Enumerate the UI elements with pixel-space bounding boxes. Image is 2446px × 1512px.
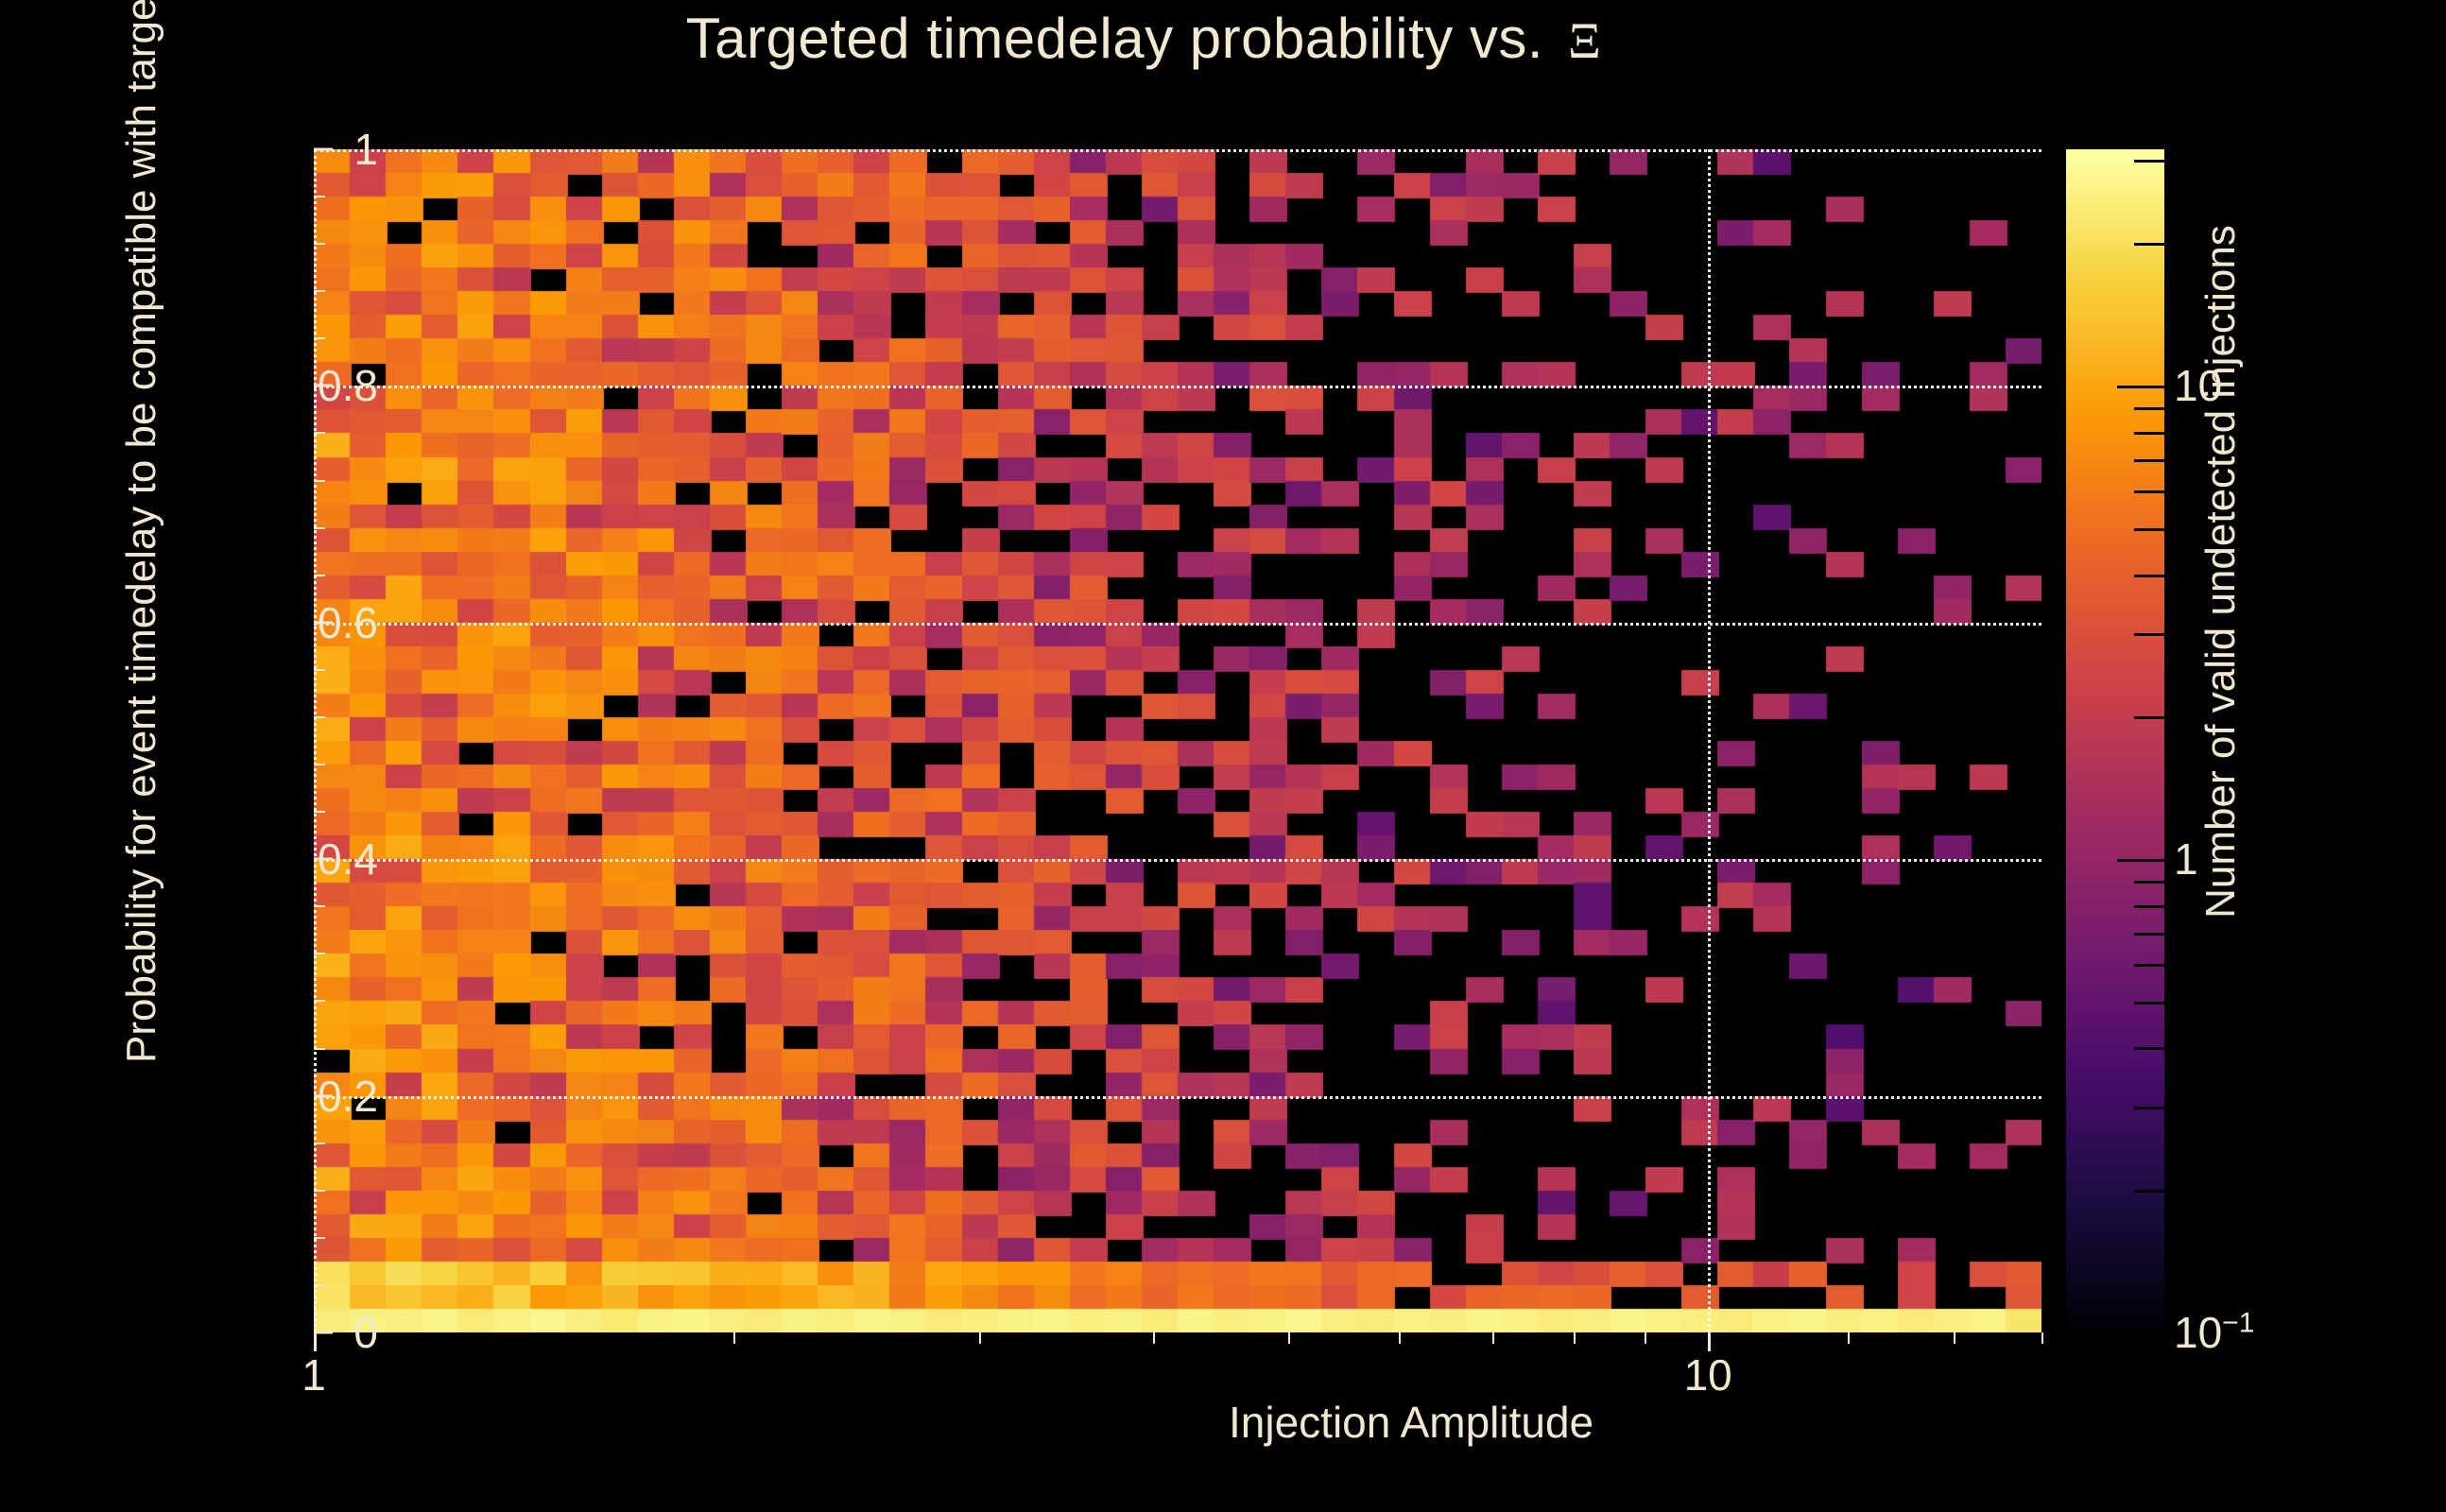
x-tick-label: 1 xyxy=(301,1349,326,1400)
colorbar-tick-mark xyxy=(2117,386,2164,388)
colorbar-tick-minor xyxy=(2134,459,2164,462)
colorbar-tick-minor xyxy=(2134,633,2164,636)
colorbar[interactable] xyxy=(2066,149,2164,1332)
y-tick-mark xyxy=(314,858,333,861)
y-tick-minor xyxy=(314,243,325,245)
y-tick-mark xyxy=(314,385,333,387)
y-tick-minor xyxy=(314,1048,325,1050)
y-tick-label: 0 xyxy=(353,1307,378,1358)
y-tick-minor xyxy=(314,1237,325,1239)
x-tick-minor xyxy=(733,1332,735,1344)
colorbar-tick-minor xyxy=(2134,528,2164,531)
y-tick-minor xyxy=(314,196,325,198)
colorbar-tick-minor xyxy=(2134,490,2164,493)
colorbar-tick-mark xyxy=(2117,1332,2164,1335)
x-tick-mark xyxy=(1708,1332,1711,1351)
y-tick-minor xyxy=(314,811,325,813)
y-tick-minor xyxy=(314,1284,325,1286)
y-tick-minor xyxy=(314,480,325,482)
y-tick-minor xyxy=(314,716,325,718)
colorbar-label: Number of valid undetected injections xyxy=(2197,99,2245,1044)
y-tick-minor xyxy=(314,1000,325,1002)
x-tick-minor xyxy=(979,1332,981,1344)
colorbar-tick-minor xyxy=(2134,905,2164,908)
chart-title-text: Targeted timedelay probability vs. xyxy=(686,7,1543,70)
heatmap-cells xyxy=(314,149,2041,1332)
x-axis-label: Injection Amplitude xyxy=(1229,1397,1593,1448)
y-tick-minor xyxy=(314,575,325,576)
colorbar-tick-minor xyxy=(2134,243,2164,246)
colorbar-tick-label: 1 xyxy=(2174,833,2198,885)
y-axis-label: Probability for event timedelay to be co… xyxy=(118,0,165,1063)
colorbar-tick-minor xyxy=(2134,1190,2164,1193)
chart-title: Targeted timedelay probability vs.Ξ xyxy=(0,6,2287,71)
x-tick-minor xyxy=(1399,1332,1401,1344)
y-tick-minor xyxy=(314,953,325,954)
colorbar-tick-minor xyxy=(2134,1047,2164,1050)
y-tick-mark xyxy=(314,1332,333,1334)
y-tick-minor xyxy=(314,290,325,292)
x-tick-minor xyxy=(1492,1332,1494,1344)
colorbar-tick-minor xyxy=(2134,964,2164,967)
y-tick-mark xyxy=(314,148,333,151)
x-tick-minor xyxy=(1848,1332,1850,1344)
y-tick-minor xyxy=(314,432,325,434)
y-tick-minor xyxy=(314,527,325,529)
y-tick-minor xyxy=(314,1190,325,1192)
xi-symbol: Ξ xyxy=(1543,12,1601,69)
x-tick-minor xyxy=(1153,1332,1155,1344)
x-tick-minor xyxy=(1288,1332,1290,1344)
x-tick-minor xyxy=(1954,1332,1955,1344)
colorbar-tick-label: 10−1 xyxy=(2174,1307,2254,1358)
x-tick-mark xyxy=(314,1332,317,1351)
x-tick-minor xyxy=(1645,1332,1646,1344)
y-tick-minor xyxy=(314,764,325,765)
colorbar-tick-minor xyxy=(2134,160,2164,163)
x-tick-minor xyxy=(2041,1332,2043,1344)
y-tick-minor xyxy=(314,337,325,339)
colorbar-tick-minor xyxy=(2134,1002,2164,1005)
colorbar-tick-minor xyxy=(2134,407,2164,410)
colorbar-tick-minor xyxy=(2134,933,2164,936)
colorbar-tick-minor xyxy=(2134,716,2164,719)
colorbar-tick-minor xyxy=(2134,881,2164,884)
x-tick-minor xyxy=(1574,1332,1576,1344)
colorbar-tick-minor xyxy=(2134,575,2164,577)
y-tick-label: 1 xyxy=(353,124,378,175)
heatmap-plot-area[interactable] xyxy=(314,149,2041,1332)
y-tick-mark xyxy=(314,621,333,624)
colorbar-tick-minor xyxy=(2134,1107,2164,1109)
y-tick-minor xyxy=(314,905,325,907)
x-tick-label: 10 xyxy=(1684,1349,1732,1400)
y-tick-minor xyxy=(314,1143,325,1144)
y-tick-minor xyxy=(314,669,325,671)
y-tick-mark xyxy=(314,1094,333,1097)
colorbar-tick-minor xyxy=(2134,432,2164,435)
chart-root: Targeted timedelay probability vs.Ξ 00.2… xyxy=(0,0,2446,1512)
colorbar-tick-mark xyxy=(2117,859,2164,862)
